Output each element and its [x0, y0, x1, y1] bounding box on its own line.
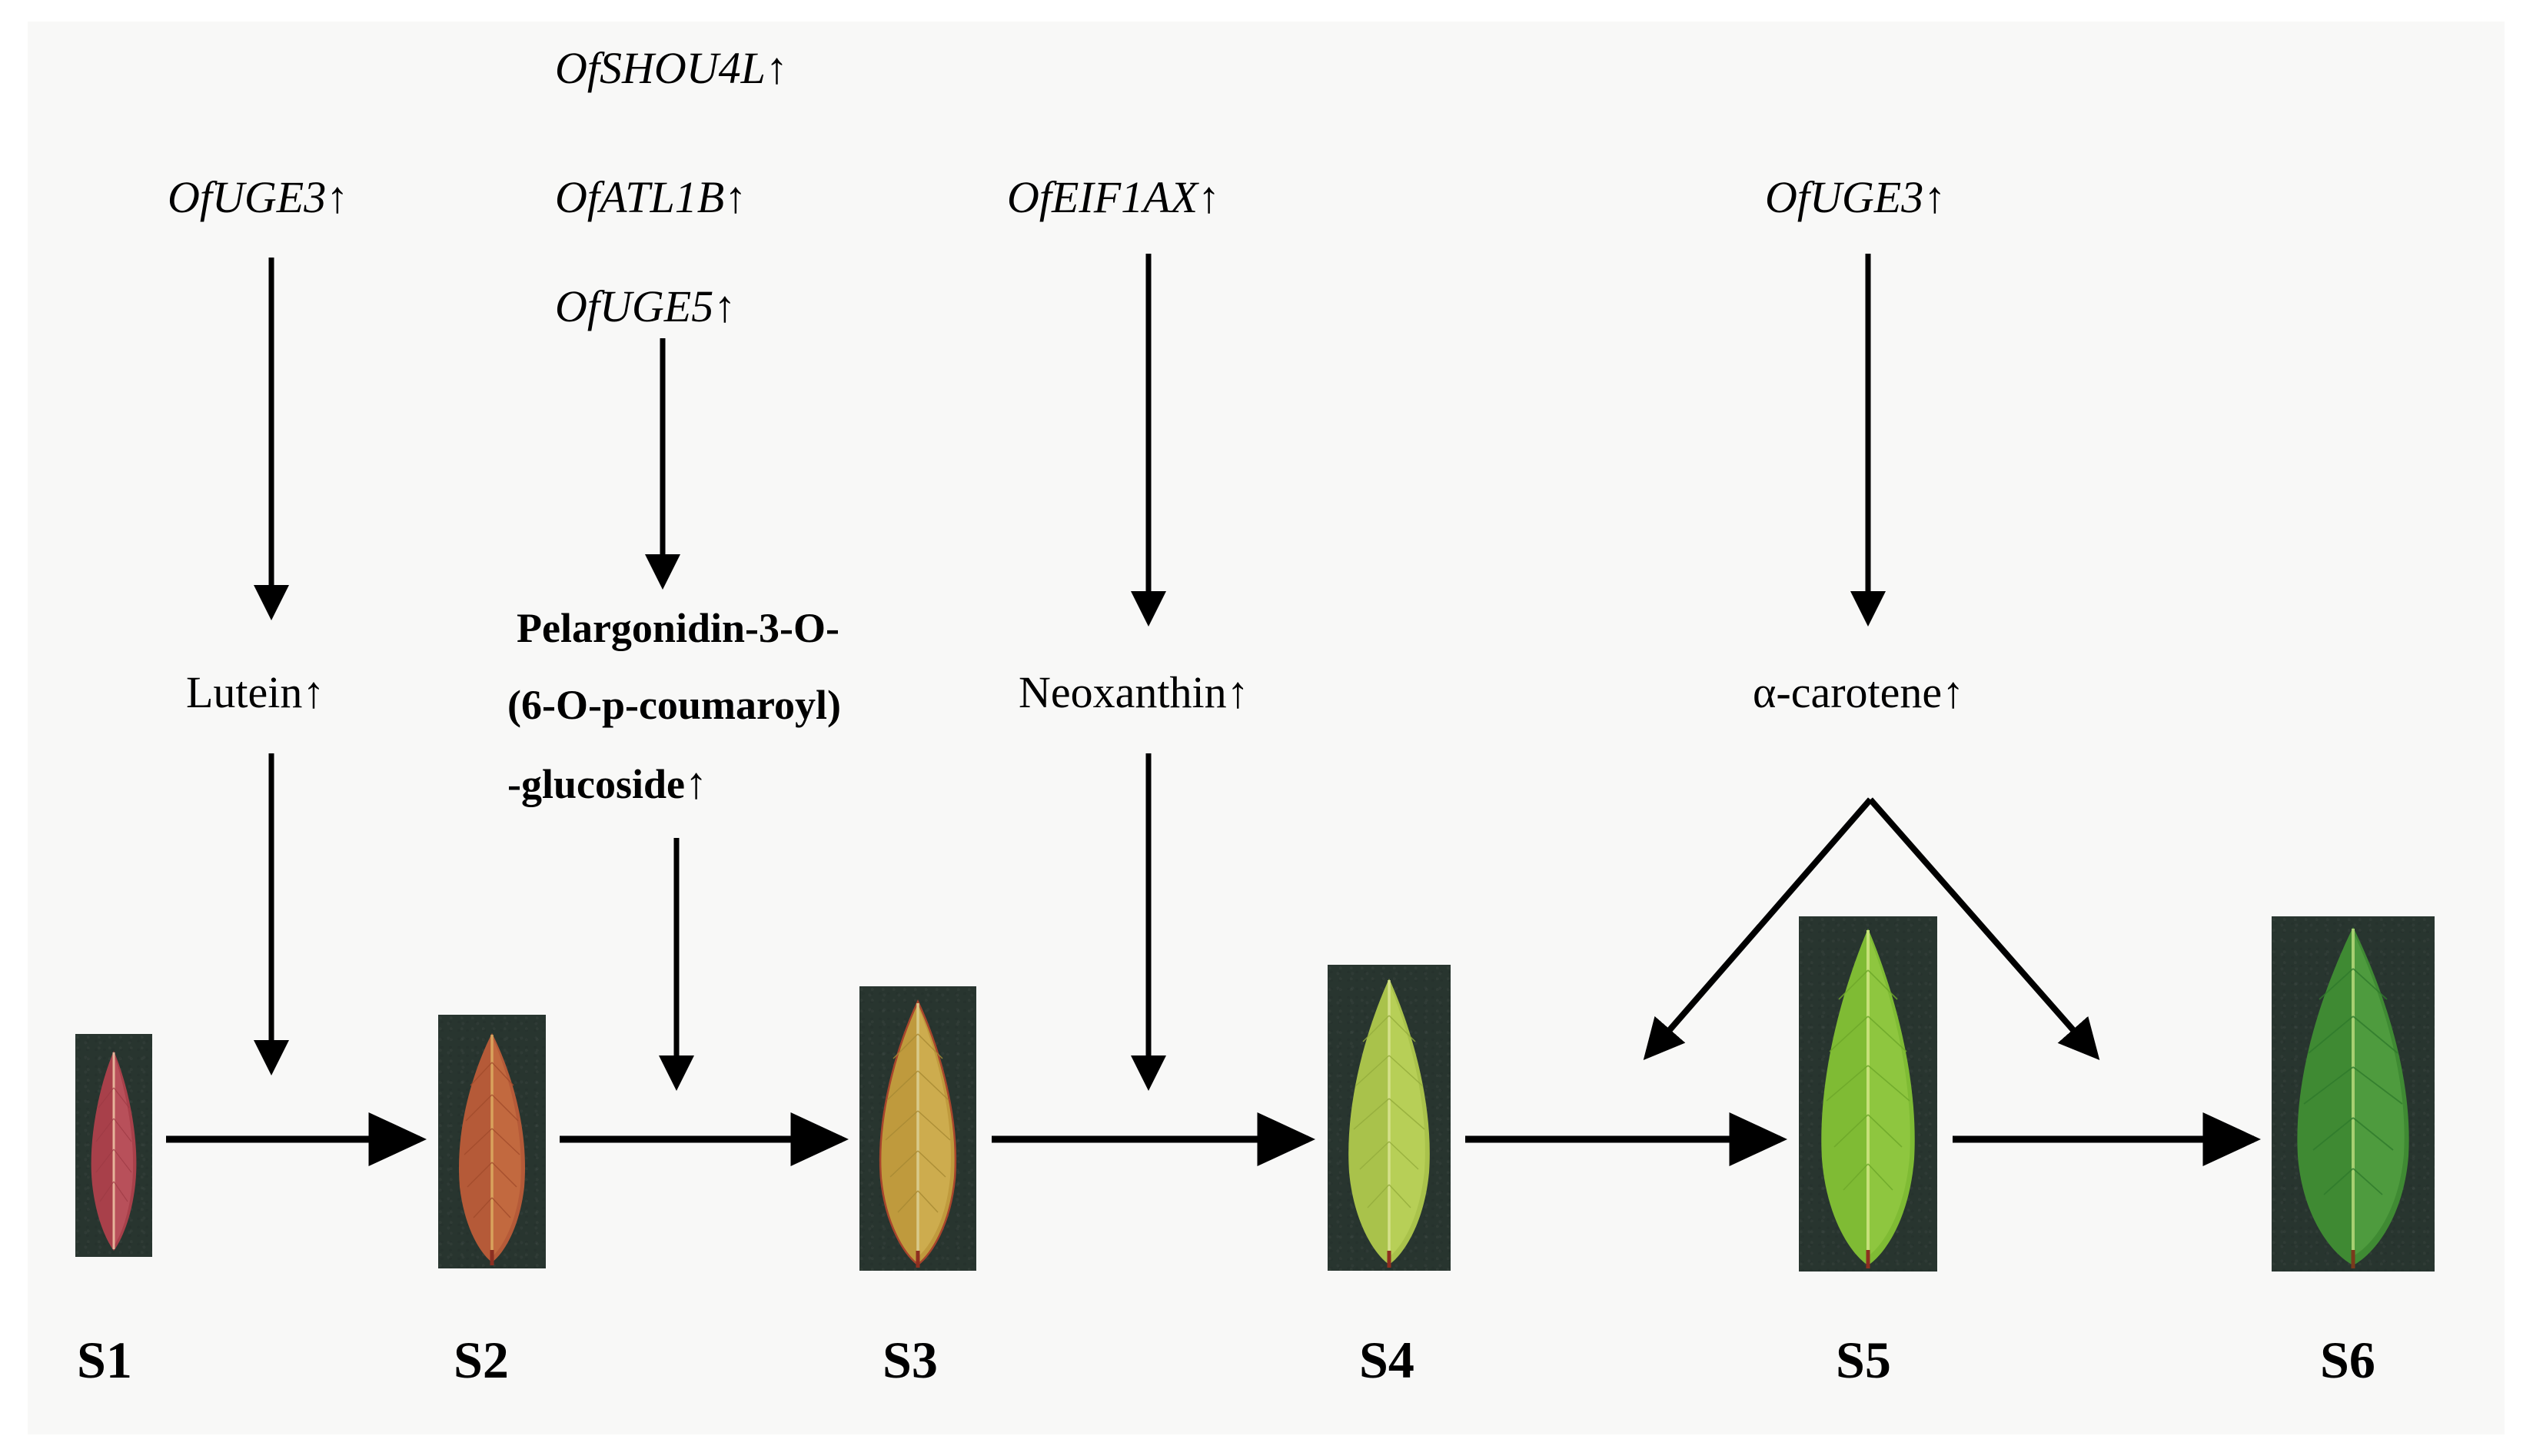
leaf-image-s1: [75, 1034, 152, 1257]
leaf-image-s5: [1799, 916, 1937, 1272]
gene-label-uge3-right: OfUGE3↑: [1765, 175, 1946, 220]
gene-label-uge5: OfUGE5↑: [555, 284, 736, 329]
metabolite-label-pelargonidin-line3: -glucoside↑: [507, 761, 707, 806]
figure-canvas: OfUGE3↑ OfSHOU4L↑ OfATL1B↑ OfUGE5↑ OfEIF…: [0, 0, 2533, 1456]
metabolite-name: α-carotene: [1753, 667, 1942, 717]
leaf-image-s2: [438, 1015, 546, 1268]
gene-name: OfSHOU4L: [555, 43, 766, 93]
gene-name: OfUGE5: [555, 281, 713, 331]
metabolite-label-neoxanthin: Neoxanthin↑: [1019, 670, 1249, 715]
stage-label-s6: S6: [2320, 1334, 2375, 1386]
gene-name: OfUGE3: [1765, 172, 1923, 222]
metabolite-name: Lutein: [186, 667, 302, 717]
figure-background: [28, 22, 2505, 1434]
up-arrow-icon: ↑: [766, 43, 788, 93]
up-arrow-icon: ↑: [713, 281, 736, 331]
metabolite-label-pelargonidin-line1: Pelargonidin-3-O-: [517, 607, 839, 649]
gene-label-uge3-left: OfUGE3↑: [168, 175, 348, 220]
leaf-image-s4: [1328, 965, 1451, 1271]
gene-name: OfUGE3: [168, 172, 326, 222]
gene-label-shou4l: OfSHOU4L↑: [555, 46, 788, 91]
up-arrow-icon: ↑: [724, 172, 746, 222]
up-arrow-icon: ↑: [1923, 172, 1946, 222]
gene-name: OfATL1B: [555, 172, 724, 222]
gene-label-eif1ax: OfEIF1AX↑: [1007, 175, 1220, 220]
leaf-image-s6: [2272, 916, 2435, 1272]
metabolite-label-alpha-carotene: α-carotene↑: [1753, 670, 1964, 715]
stage-label-s1: S1: [77, 1334, 132, 1386]
stage-label-s5: S5: [1836, 1334, 1891, 1386]
metabolite-label-lutein: Lutein↑: [186, 670, 324, 715]
gene-label-atl1b: OfATL1B↑: [555, 175, 746, 220]
stage-label-s2: S2: [454, 1334, 509, 1386]
up-arrow-icon: ↑: [326, 172, 348, 222]
up-arrow-icon: ↑: [1227, 667, 1249, 717]
up-arrow-icon: ↑: [302, 667, 324, 717]
up-arrow-icon: ↑: [1942, 667, 1964, 717]
metabolite-label-pelargonidin-line2: (6-O-p-coumaroyl): [507, 684, 841, 726]
stage-label-s4: S4: [1359, 1334, 1414, 1386]
gene-name: OfEIF1AX: [1007, 172, 1198, 222]
up-arrow-icon: ↑: [1198, 172, 1220, 222]
leaf-image-s3: [859, 986, 976, 1271]
stage-label-s3: S3: [883, 1334, 938, 1386]
metabolite-name: Neoxanthin: [1019, 667, 1227, 717]
metabolite-name: -glucoside: [507, 761, 685, 807]
up-arrow-icon: ↑: [685, 758, 707, 808]
